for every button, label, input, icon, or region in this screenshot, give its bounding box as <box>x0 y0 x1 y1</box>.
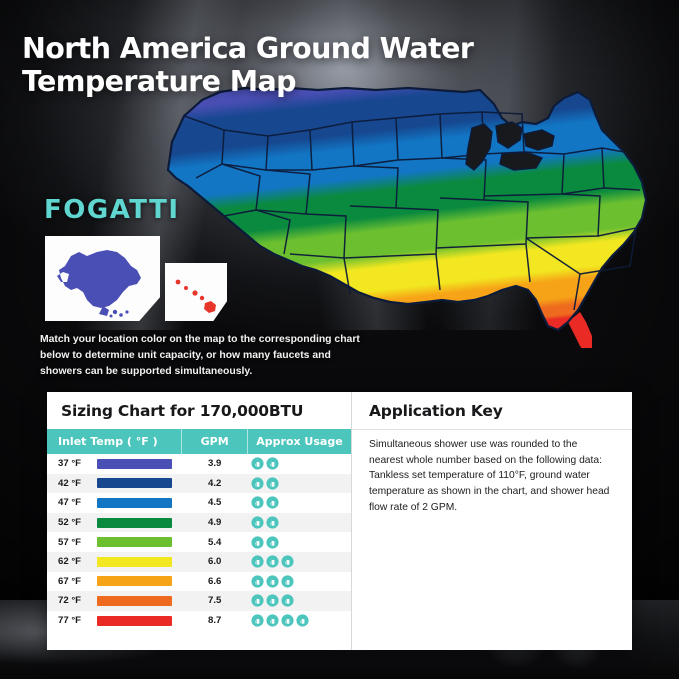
temperature-color-swatch <box>97 518 172 528</box>
table-body: 37 °F3.9 42 °F4.2 47 °F4.5 <box>47 454 351 630</box>
column-header-gpm: GPM <box>182 429 248 454</box>
inlet-temp-value: 57 °F <box>58 537 92 548</box>
shower-icon <box>266 575 279 588</box>
table-row: 77 °F8.7 <box>47 611 351 631</box>
shower-icon <box>281 594 294 607</box>
cell-inlet-temp: 47 °F <box>47 493 182 513</box>
hawaii-inset <box>165 263 227 321</box>
usage-icon-group <box>251 477 351 490</box>
hawaii-islands <box>176 280 216 313</box>
usage-icon-group <box>251 536 351 549</box>
application-key-title: Application Key <box>352 392 632 429</box>
shower-icon <box>251 575 264 588</box>
shower-icon <box>251 477 264 490</box>
usa-temperature-map <box>150 78 670 348</box>
inlet-temp-value: 52 °F <box>58 517 92 528</box>
table-row: 57 °F5.4 <box>47 532 351 552</box>
temperature-color-swatch <box>97 596 172 606</box>
inlet-temp-value: 62 °F <box>58 556 92 567</box>
column-header-approx-usage: Approx Usage <box>247 429 351 454</box>
cell-approx-usage <box>247 552 351 572</box>
temperature-color-swatch <box>97 478 172 488</box>
cell-approx-usage <box>247 474 351 494</box>
cell-approx-usage <box>247 513 351 533</box>
cell-gpm: 3.9 <box>182 454 248 474</box>
cell-gpm: 4.9 <box>182 513 248 533</box>
table-header: Inlet Temp ( °F ) GPM Approx Usage <box>47 429 351 454</box>
cell-approx-usage <box>247 591 351 611</box>
cell-inlet-temp: 57 °F <box>47 532 182 552</box>
cell-gpm: 4.5 <box>182 493 248 513</box>
shower-icon <box>296 614 309 627</box>
sizing-chart-table: Inlet Temp ( °F ) GPM Approx Usage 37 °F… <box>47 429 351 630</box>
usage-icon-group <box>251 614 351 627</box>
inlet-temp-value: 72 °F <box>58 595 92 606</box>
table-row: 42 °F4.2 <box>47 474 351 494</box>
shower-icon <box>266 496 279 509</box>
table-row: 47 °F4.5 <box>47 493 351 513</box>
cell-inlet-temp: 62 °F <box>47 552 182 572</box>
shower-icon <box>266 555 279 568</box>
application-key-panel: Application Key Simultaneous shower use … <box>352 392 632 650</box>
cell-inlet-temp: 72 °F <box>47 591 182 611</box>
map-landmass <box>150 78 670 348</box>
cell-approx-usage <box>247 572 351 592</box>
shower-icon <box>251 555 264 568</box>
aleutian-islands <box>110 310 129 318</box>
cell-gpm: 4.2 <box>182 474 248 494</box>
sizing-chart-panel: Sizing Chart for 170,000BTU Inlet Temp (… <box>47 392 352 650</box>
fogatti-logo: FOGATTI <box>44 195 180 225</box>
usage-icon-group <box>251 496 351 509</box>
temperature-color-swatch <box>97 616 172 626</box>
inlet-temp-value: 37 °F <box>58 458 92 469</box>
usage-icon-group <box>251 575 351 588</box>
temperature-color-swatch <box>97 459 172 469</box>
shower-icon <box>266 536 279 549</box>
cell-approx-usage <box>247 454 351 474</box>
shower-icon <box>251 457 264 470</box>
cell-approx-usage <box>247 611 351 631</box>
inlet-temp-value: 77 °F <box>58 615 92 626</box>
table-row: 67 °F6.6 <box>47 572 351 592</box>
temperature-color-swatch <box>97 498 172 508</box>
shower-icon <box>266 614 279 627</box>
application-key-body: Simultaneous shower use was rounded to t… <box>352 430 632 515</box>
table-row: 72 °F7.5 <box>47 591 351 611</box>
cell-gpm: 7.5 <box>182 591 248 611</box>
table-row: 62 °F6.0 <box>47 552 351 572</box>
instruction-text: Match your location color on the map to … <box>40 332 370 379</box>
shower-icon <box>251 536 264 549</box>
shower-icon <box>266 457 279 470</box>
inlet-temp-value: 42 °F <box>58 478 92 489</box>
info-card: Sizing Chart for 170,000BTU Inlet Temp (… <box>47 392 632 650</box>
column-header-inlet-temp: Inlet Temp ( °F ) <box>47 429 182 454</box>
alaska-shape <box>57 250 141 308</box>
inlet-temp-value: 47 °F <box>58 497 92 508</box>
table-row: 37 °F3.9 <box>47 454 351 474</box>
alaska-inset <box>45 236 160 321</box>
cell-gpm: 5.4 <box>182 532 248 552</box>
temperature-color-swatch <box>97 557 172 567</box>
cell-approx-usage <box>247 532 351 552</box>
temperature-color-swatch <box>97 537 172 547</box>
shower-icon <box>281 555 294 568</box>
usage-icon-group <box>251 594 351 607</box>
sizing-chart-title: Sizing Chart for 170,000BTU <box>47 392 351 429</box>
usage-icon-group <box>251 555 351 568</box>
cell-inlet-temp: 37 °F <box>47 454 182 474</box>
table-row: 52 °F4.9 <box>47 513 351 533</box>
cell-approx-usage <box>247 493 351 513</box>
shower-icon <box>266 477 279 490</box>
shower-icon <box>251 614 264 627</box>
shower-icon <box>281 614 294 627</box>
shower-icon <box>266 516 279 529</box>
page-title: North America Ground Water Temperature M… <box>22 32 672 98</box>
shower-icon <box>251 594 264 607</box>
shower-icon <box>251 516 264 529</box>
cell-gpm: 6.6 <box>182 572 248 592</box>
usage-icon-group <box>251 516 351 529</box>
inlet-temp-value: 67 °F <box>58 576 92 587</box>
usage-icon-group <box>251 457 351 470</box>
cell-inlet-temp: 77 °F <box>47 611 182 631</box>
shower-icon <box>251 496 264 509</box>
cell-gpm: 6.0 <box>182 552 248 572</box>
shower-icon <box>266 594 279 607</box>
cell-inlet-temp: 52 °F <box>47 513 182 533</box>
shower-icon <box>281 575 294 588</box>
temperature-color-swatch <box>97 576 172 586</box>
cell-inlet-temp: 67 °F <box>47 572 182 592</box>
cell-inlet-temp: 42 °F <box>47 474 182 494</box>
cell-gpm: 8.7 <box>182 611 248 631</box>
